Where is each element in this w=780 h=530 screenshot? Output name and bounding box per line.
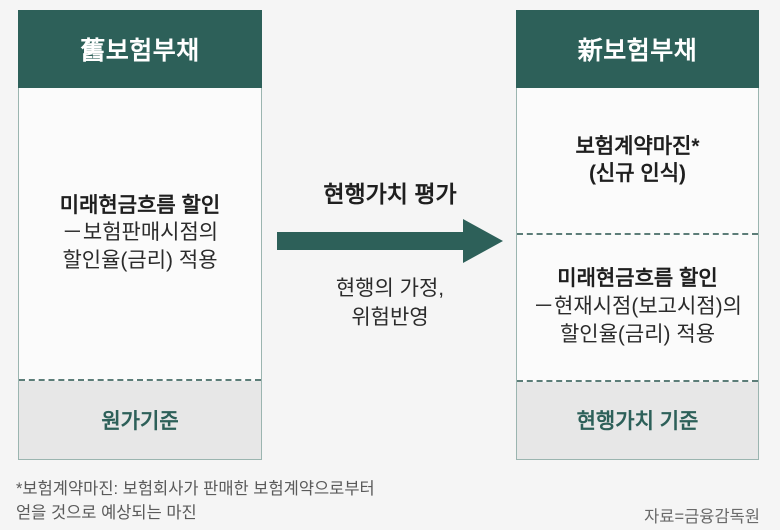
old-measurement-basis-band: 원가기준 xyxy=(19,381,261,459)
old-future-cashflow-detail-1: －보험판매시점의 xyxy=(62,219,218,247)
old-future-cashflow-title: 미래현금흐름 할인 xyxy=(60,192,220,219)
old-future-cashflow-section: 미래현금흐름 할인 －보험판매시점의 할인율(금리) 적용 xyxy=(19,88,261,379)
transition-arrow-group: 현행가치 평가 현행의 가정, 위험반영 xyxy=(272,175,508,333)
csm-title: 보험계약마진* xyxy=(575,133,699,160)
footnote: *보험계약마진: 보험회사가 판매한 보험계약으로부터 얻을 것으로 예상되는 … xyxy=(16,478,486,526)
contractual-service-margin-section: 보험계약마진* (신규 인식) xyxy=(517,88,758,233)
footnote-line-2: 얻을 것으로 예상되는 마진 xyxy=(16,502,486,526)
new-measurement-basis-band: 현행가치 기준 xyxy=(517,382,758,459)
old-insurance-liability-header: 舊보험부채 xyxy=(18,10,262,88)
old-future-cashflow-detail-2: 할인율(금리) 적용 xyxy=(62,247,217,275)
new-insurance-liability-header: 新보험부채 xyxy=(516,10,759,88)
old-insurance-liability-body: 미래현금흐름 할인 －보험판매시점의 할인율(금리) 적용 원가기준 xyxy=(18,88,262,460)
new-future-cashflow-detail-2: 할인율(금리) 적용 xyxy=(560,321,715,349)
old-measurement-basis-label: 원가기준 xyxy=(101,405,178,435)
new-future-cashflow-detail-1: －현재시점(보고시점)의 xyxy=(533,293,742,321)
new-insurance-liability-body: 보험계약마진* (신규 인식) 미래현금흐름 할인 －현재시점(보고시점)의 할… xyxy=(516,88,759,460)
footnote-line-1: *보험계약마진: 보험회사가 판매한 보험계약으로부터 xyxy=(16,478,486,502)
new-insurance-liability-panel: 新보험부채 보험계약마진* (신규 인식) 미래현금흐름 할인 －현재시점(보고… xyxy=(516,10,759,460)
csm-subtitle: (신규 인식) xyxy=(589,160,686,187)
new-future-cashflow-section: 미래현금흐름 할인 －현재시점(보고시점)의 할인율(금리) 적용 xyxy=(517,235,758,380)
new-future-cashflow-title: 미래현금흐름 할인 xyxy=(557,265,717,292)
transition-arrow-caption: 현행의 가정, 위험반영 xyxy=(272,275,508,333)
transition-caption-line-1: 현행의 가정, xyxy=(272,275,508,304)
right-arrow-icon xyxy=(277,219,503,263)
diagram-canvas: 舊보험부채 미래현금흐름 할인 －보험판매시점의 할인율(금리) 적용 원가기준… xyxy=(0,0,780,530)
source-credit: 자료=금융감독원 xyxy=(644,503,760,527)
transition-arrow-title: 현행가치 평가 xyxy=(272,175,508,209)
transition-caption-line-2: 위험반영 xyxy=(272,304,508,333)
new-measurement-basis-label: 현행가치 기준 xyxy=(577,405,699,435)
old-insurance-liability-panel: 舊보험부채 미래현금흐름 할인 －보험판매시점의 할인율(금리) 적용 원가기준 xyxy=(18,10,262,460)
